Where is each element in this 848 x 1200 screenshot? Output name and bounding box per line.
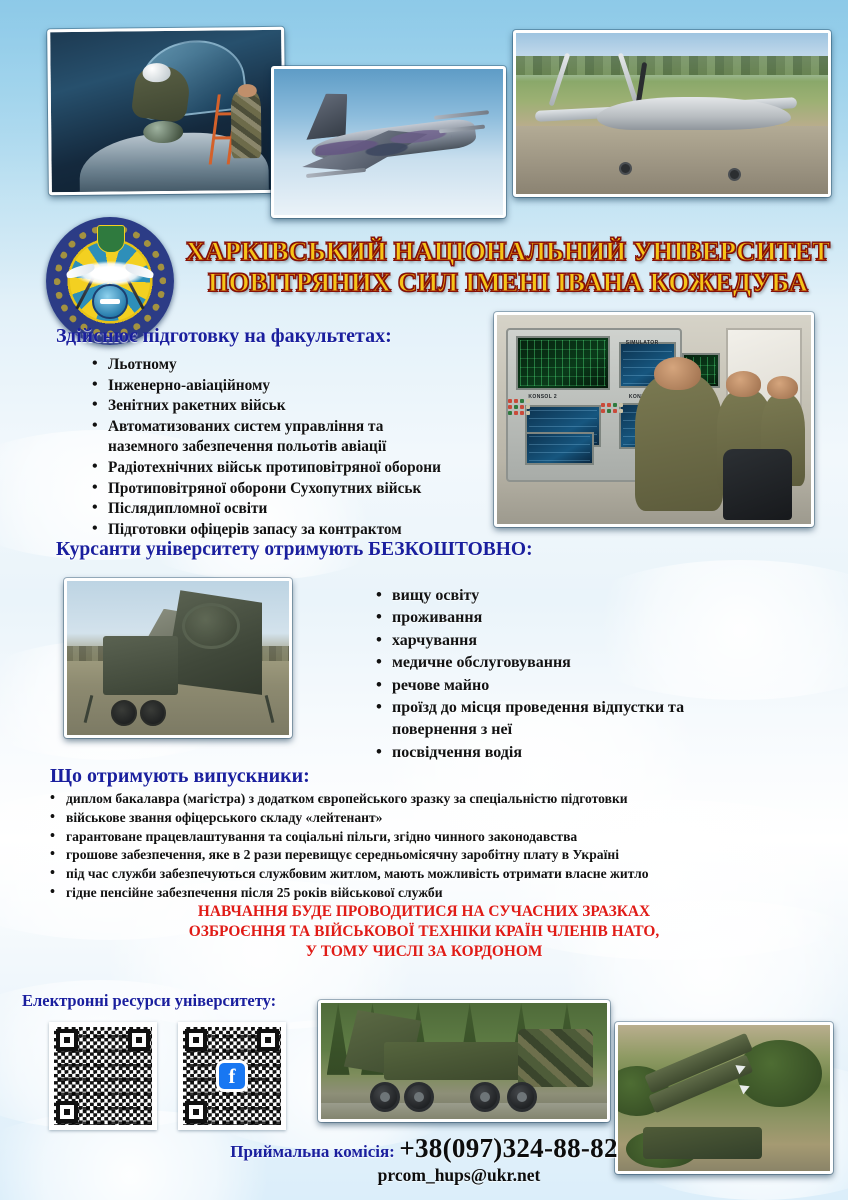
list-item: гідне пенсійне забезпечення після 25 рок… [44,884,834,903]
nato-training-notice: НАВЧАННЯ БУДЕ ПРОВОДИТИСЯ НА СУЧАСНИХ ЗР… [124,902,724,962]
list-item: Автоматизованих систем управління та [88,417,518,438]
title-line-2: ПОВІТРЯНИХ СИЛ ІМЕНІ ІВАНА КОЖЕДУБА [178,267,838,298]
photo-radar-trailer [64,578,292,738]
list-item: проїзд до місця проведення відпустки та [372,697,792,719]
list-item: Інженерно-авіаційному [88,376,518,397]
admissions-phone[interactable]: +38(097)324-88-82 [399,1133,617,1163]
photo-launcher-truck [318,1000,610,1122]
admissions-email[interactable]: prcom_hups@ukr.net [70,1165,848,1186]
list-item: гарантоване працевлаштування та соціальн… [44,828,834,847]
list-item: посвідчення водія [372,742,792,764]
list-item-continuation: наземного забезпечення польотів авіації [88,437,518,458]
admissions-label: Приймальна комісія: [230,1142,395,1161]
list-free-benefits: вищу освіту проживання харчування медичн… [372,585,792,764]
list-faculties: Льотному Інженерно-авіаційному Зенітних … [88,355,518,540]
list-item: вищу освіту [372,585,792,607]
list-item: Льотному [88,355,518,376]
console-label-simulator: SIMULATOR [626,340,659,346]
nato-line-1: НАВЧАННЯ БУДЕ ПРОВОДИТИСЯ НА СУЧАСНИХ ЗР… [124,902,724,922]
photo-f16-jet [271,66,506,218]
list-item: Післядипломної освіти [88,499,518,520]
list-item: Радіотехнічних військ протиповітряної об… [88,458,518,479]
contact-block: Приймальна комісія: +38(097)324-88-82 pr… [0,1133,848,1186]
list-item-continuation: повернення з неї [372,719,792,741]
emblem-shield-icon [97,225,125,253]
heading-graduates: Що отримують випускники: [50,765,310,788]
list-item: під час служби забезпечуються службовим … [44,865,834,884]
list-item: Зенітних ракетних військ [88,396,518,417]
list-item: харчування [372,630,792,652]
qr-code-website[interactable] [49,1022,157,1130]
page-title: ХАРКІВСЬКИЙ НАЦІОНАЛЬНИЙ УНІВЕРСИТЕТ ПОВ… [178,236,838,298]
qr-code-facebook[interactable]: f [178,1022,286,1130]
list-item: речове майно [372,675,792,697]
heading-faculties: Здійснює підготовку на факультетах: [56,325,392,348]
title-line-1: ХАРКІВСЬКИЙ НАЦІОНАЛЬНИЙ УНІВЕРСИТЕТ [178,236,838,267]
list-item: медичне обслуговування [372,652,792,674]
nato-line-2: ОЗБРОЄННЯ ТА ВІЙСЬКОВОЇ ТЕХНІКИ КРАЇН ЧЛ… [124,922,724,942]
photo-bayraktar-drone [513,30,831,197]
heading-free-benefits: Курсанти університету отримують БЕЗКОШТО… [56,539,533,561]
list-item: диплом бакалавра (магістра) з додатком є… [44,790,834,809]
list-item: військове звання офіцерського складу «ле… [44,809,834,828]
emblem-center-disc [92,284,128,320]
nato-line-3: У ТОМУ ЧИСЛІ ЗА КОРДОНОМ [124,942,724,962]
list-item: Протиповітряної оборони Сухопутних війсь… [88,479,518,500]
emblem-eagle-icon [75,261,144,287]
photo-pilot-cockpit [47,27,286,195]
photo-simulator-consoles: KONSOL 2 SIMULATOR KONSOL 3 [494,312,814,527]
list-item: проживання [372,607,792,629]
poster-root: ХАРКІВСЬКИЙ НАЦІОНАЛЬНИЙ УНІВЕРСИТЕТ ПОВ… [0,0,848,1200]
heading-eresources: Електронні ресурси університету: [22,991,276,1011]
list-item: Підготовки офіцерів запасу за контрактом [88,520,518,541]
list-graduates: диплом бакалавра (магістра) з додатком є… [44,790,834,903]
list-item: грошове забезпечення, яке в 2 рази перев… [44,846,834,865]
facebook-icon: f [219,1063,245,1089]
